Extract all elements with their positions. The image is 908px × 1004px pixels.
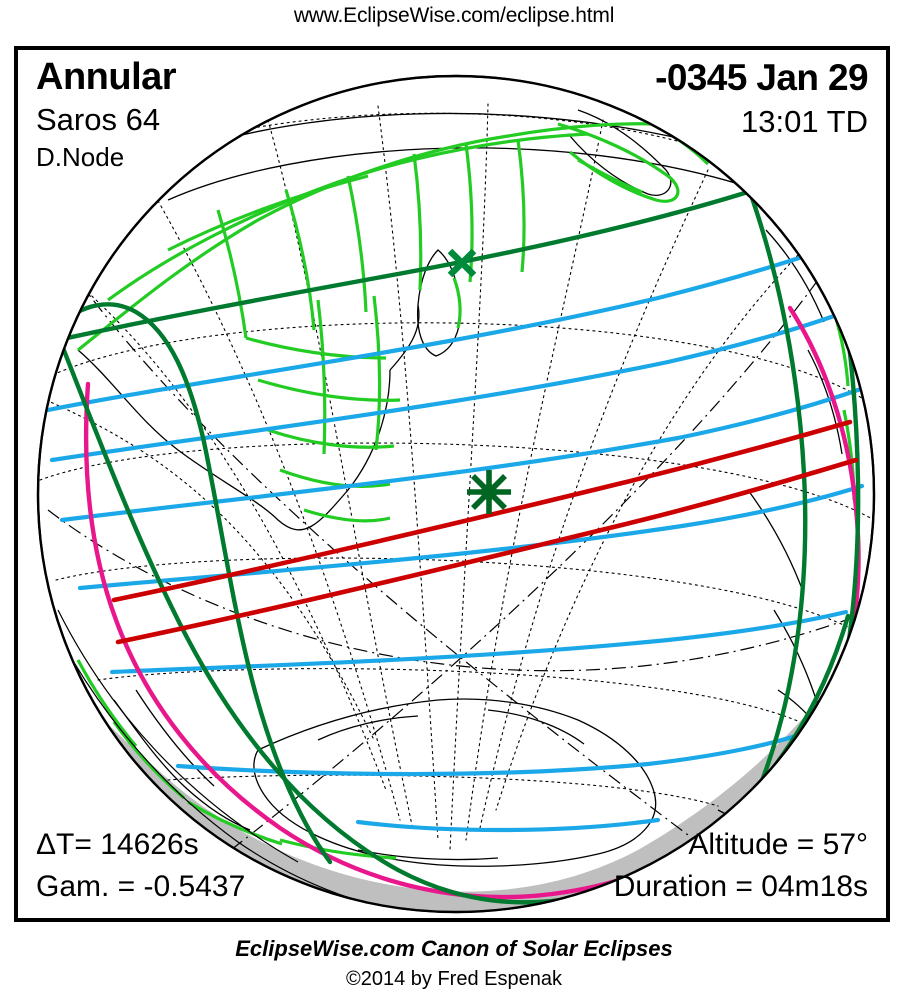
source-url-caption: www.EclipseWise.com/eclipse.html (0, 4, 908, 28)
altitude-label: Altitude = 57° (688, 830, 868, 860)
eclipse-type-label: Annular (36, 58, 176, 96)
footer-title: EclipseWise.com Canon of Solar Eclipses (0, 936, 908, 962)
saros-label: Saros 64 (36, 104, 160, 135)
orthographic-globe (18, 50, 886, 918)
eclipse-date-label: -0345 Jan 29 (655, 59, 868, 96)
eclipse-time-label: 13:01 TD (741, 106, 868, 137)
eclipse-map-frame: Annular Saros 64 D.Node -0345 Jan 29 13:… (14, 46, 890, 922)
delta-t-label: ΔT= 14626s (36, 830, 199, 860)
node-label: D.Node (36, 144, 124, 170)
globe-container (18, 50, 886, 918)
greatest-eclipse-marker (467, 470, 511, 514)
footer-copyright: ©2014 by Fred Espenak (0, 968, 908, 991)
eclipse-map-page: www.EclipseWise.com/eclipse.html (0, 0, 908, 1004)
gamma-label: Gam. = -0.5437 (36, 872, 245, 902)
duration-label: Duration = 04m18s (614, 872, 868, 902)
